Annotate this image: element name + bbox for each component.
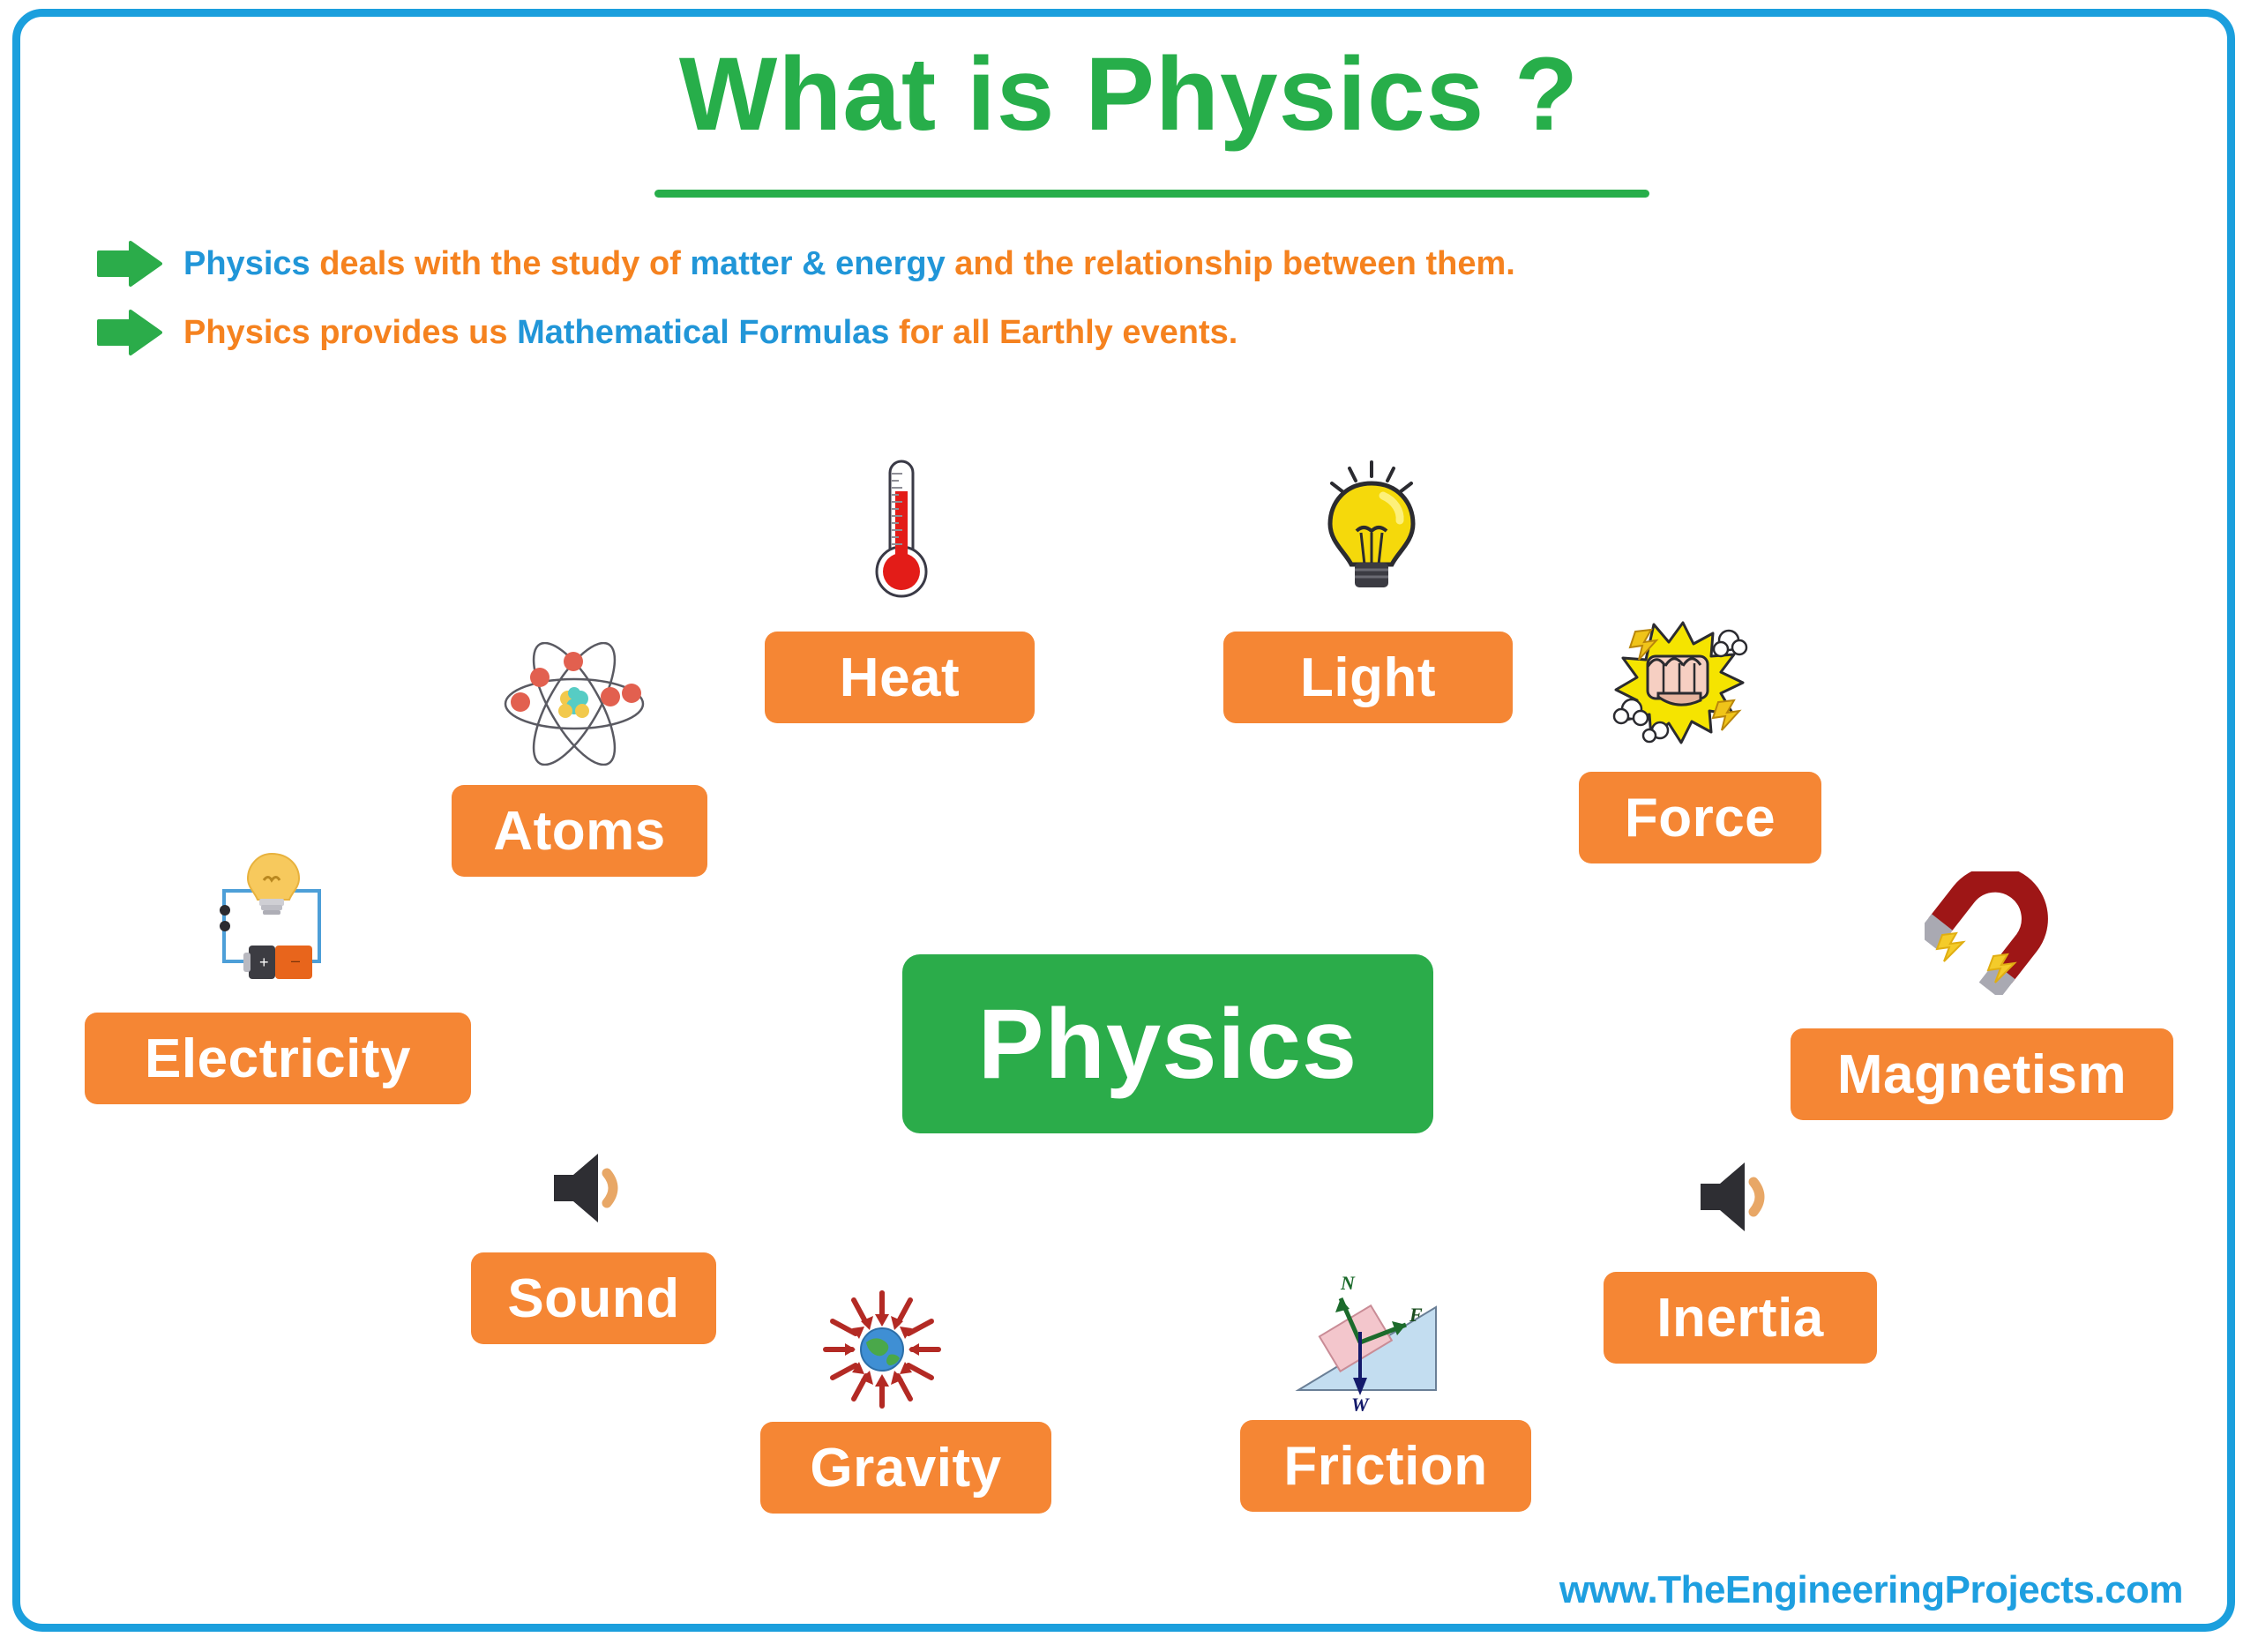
bullet-segment: matter & energy (690, 245, 954, 282)
branch-label-magnetism: Magnetism (1791, 1028, 2173, 1120)
svg-text:–: – (291, 952, 300, 969)
bullet-segment: Mathematical Formulas (517, 314, 899, 351)
branch-label-friction: Friction (1240, 1420, 1531, 1512)
branch-node-gravity[interactable]: Gravity (760, 1422, 1051, 1514)
atom-icon (499, 642, 649, 770)
physics-center-label: Physics (978, 987, 1357, 1101)
earth-gravity-arrows-icon (820, 1288, 944, 1416)
branch-node-force[interactable]: Force (1579, 772, 1821, 863)
bullet-segment: and the relationship between them. (954, 245, 1515, 282)
inclined-plane-forces-icon: N F W (1286, 1270, 1462, 1416)
branch-node-friction[interactable]: Friction (1240, 1420, 1531, 1512)
footer-website: www.TheEngineeringProjects.com (0, 1568, 2183, 1612)
friction-normal-label: N (1340, 1272, 1356, 1294)
bullet-row: Physics provides us Mathematical Formula… (97, 300, 2126, 365)
green-arrow-icon (97, 309, 162, 356)
horseshoe-magnet-icon (1925, 871, 2057, 999)
infographic-canvas: What is Physics ? Physics deals with the… (0, 0, 2258, 1652)
bullet-text: Physics deals with the study of matter &… (183, 245, 1515, 283)
fist-punch-icon (1605, 617, 1755, 754)
bullet-text: Physics provides us Mathematical Formula… (183, 314, 1237, 352)
bullet-segment: deals with the study of (319, 245, 690, 282)
bullet-segment: Physics provides us (183, 314, 517, 351)
green-arrow-icon (97, 240, 162, 288)
bullet-segment: Physics (183, 245, 319, 282)
bullet-segment: for all Earthly events. (899, 314, 1237, 351)
friction-force-label: F (1409, 1304, 1423, 1326)
branch-label-inertia: Inertia (1604, 1272, 1877, 1364)
branch-label-force: Force (1579, 772, 1821, 863)
branch-node-magnetism[interactable]: Magnetism (1791, 1028, 2173, 1120)
branch-node-light[interactable]: Light (1223, 632, 1513, 723)
branch-label-light: Light (1223, 632, 1513, 723)
branch-label-atoms: Atoms (452, 785, 707, 877)
branch-node-heat[interactable]: Heat (765, 632, 1035, 723)
friction-weight-label: W (1351, 1394, 1370, 1411)
circuit-battery-bulb-icon: + – (208, 848, 349, 998)
speaker-icon (547, 1148, 635, 1232)
branch-node-atoms[interactable]: Atoms (452, 785, 707, 877)
svg-text:+: + (259, 953, 269, 971)
lightbulb-icon (1314, 457, 1429, 602)
branch-label-sound: Sound (471, 1252, 716, 1344)
thermometer-icon (851, 454, 948, 609)
title-underline (654, 190, 1649, 198)
page-title: What is Physics ? (670, 42, 1588, 146)
bullet-row: Physics deals with the study of matter &… (97, 231, 2126, 296)
page-title-wrap: What is Physics ? (0, 42, 2258, 146)
branch-node-electricity[interactable]: Electricity (85, 1013, 471, 1104)
speaker-icon (1693, 1157, 1782, 1241)
physics-center-node: Physics (902, 954, 1433, 1133)
branch-label-heat: Heat (765, 632, 1035, 723)
intro-bullets: Physics deals with the study of matter &… (97, 231, 2126, 369)
branch-label-gravity: Gravity (760, 1422, 1051, 1514)
branch-node-sound[interactable]: Sound (471, 1252, 716, 1344)
branch-label-electricity: Electricity (85, 1013, 471, 1104)
branch-node-inertia[interactable]: Inertia (1604, 1272, 1877, 1364)
